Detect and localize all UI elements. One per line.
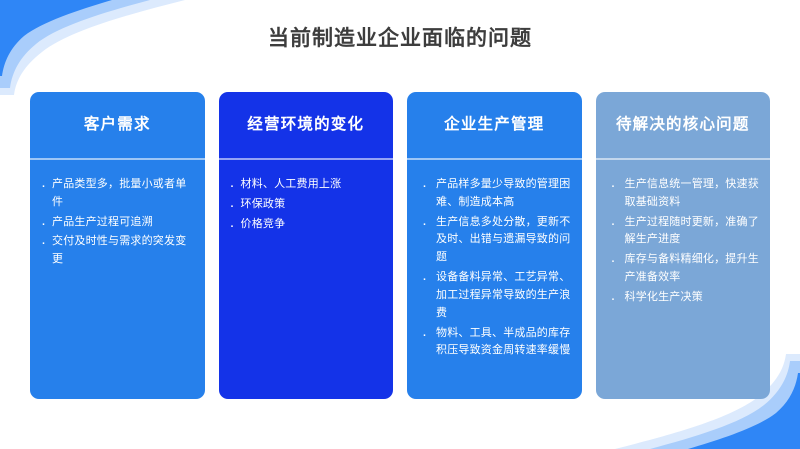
list-item: 生产过程随时更新，准确了解生产进度: [606, 214, 763, 250]
card-body: 材料、人工费用上涨 环保政策 价格竞争: [219, 160, 394, 399]
card-header: 客户需求: [30, 92, 205, 158]
list-item: 材料、人工费用上涨: [228, 176, 385, 194]
card-title: 经营环境的变化: [247, 116, 364, 135]
bullet-list: 产品样多量少导致的管理困难、制造成本高 生产信息多处分散，更新不及时、出错与遗漏…: [417, 176, 574, 360]
bullet-list: 材料、人工费用上涨 环保政策 价格竞争: [228, 176, 385, 233]
card-title: 待解决的核心问题: [616, 116, 750, 135]
list-item: 产品类型多，批量小或者单件: [39, 176, 196, 212]
card-header: 经营环境的变化: [219, 92, 394, 158]
cards-row: 客户需求 产品类型多，批量小或者单件 产品生产过程可追溯 交付及时性与需求的突发…: [30, 92, 770, 399]
page-title: 当前制造业企业面临的问题: [0, 22, 800, 52]
card-business-environment-change[interactable]: 经营环境的变化 材料、人工费用上涨 环保政策 价格竞争: [219, 92, 394, 399]
card-title: 企业生产管理: [444, 116, 544, 135]
list-item: 交付及时性与需求的突发变更: [39, 233, 196, 269]
list-item: 设备备料异常、工艺异常、加工过程异常导致的生产浪费: [417, 269, 574, 322]
list-item: 生产信息统一管理，快速获取基础资料: [606, 176, 763, 212]
list-item: 产品样多量少导致的管理困难、制造成本高: [417, 176, 574, 212]
card-body: 产品类型多，批量小或者单件 产品生产过程可追溯 交付及时性与需求的突发变更: [30, 160, 205, 399]
bullet-list: 生产信息统一管理，快速获取基础资料 生产过程随时更新，准确了解生产进度 库存与备…: [606, 176, 763, 307]
list-item: 价格竞争: [228, 216, 385, 234]
card-header: 企业生产管理: [407, 92, 582, 158]
card-core-problems-to-solve[interactable]: 待解决的核心问题 生产信息统一管理，快速获取基础资料 生产过程随时更新，准确了解…: [596, 92, 771, 399]
list-item: 库存与备料精细化，提升生产准备效率: [606, 251, 763, 287]
card-body: 产品样多量少导致的管理困难、制造成本高 生产信息多处分散，更新不及时、出错与遗漏…: [407, 160, 582, 399]
list-item: 产品生产过程可追溯: [39, 214, 196, 232]
card-customer-demand[interactable]: 客户需求 产品类型多，批量小或者单件 产品生产过程可追溯 交付及时性与需求的突发…: [30, 92, 205, 399]
list-item: 科学化生产决策: [606, 289, 763, 307]
slide-root: 当前制造业企业面临的问题 客户需求 产品类型多，批量小或者单件 产品生产过程可追…: [0, 0, 800, 449]
list-item: 生产信息多处分散，更新不及时、出错与遗漏导致的问题: [417, 214, 574, 267]
list-item: 物料、工具、半成品的库存积压导致资金周转速率缓慢: [417, 325, 574, 361]
card-header: 待解决的核心问题: [596, 92, 771, 158]
list-item: 环保政策: [228, 196, 385, 214]
card-body: 生产信息统一管理，快速获取基础资料 生产过程随时更新，准确了解生产进度 库存与备…: [596, 160, 771, 399]
bullet-list: 产品类型多，批量小或者单件 产品生产过程可追溯 交付及时性与需求的突发变更: [39, 176, 196, 269]
card-title: 客户需求: [84, 116, 151, 135]
card-production-management[interactable]: 企业生产管理 产品样多量少导致的管理困难、制造成本高 生产信息多处分散，更新不及…: [407, 92, 582, 399]
